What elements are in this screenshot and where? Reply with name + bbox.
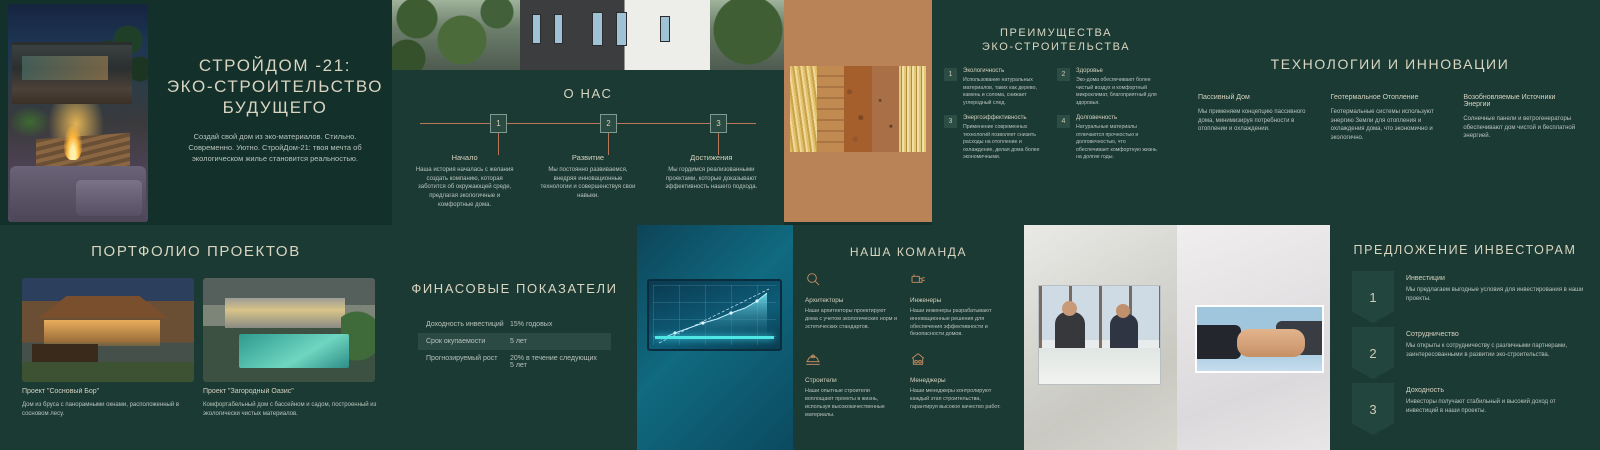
advantages-title-line2: ЭКО-СТРОИТЕЛЬСТВА xyxy=(932,40,1180,54)
about-timeline: 1 2 3 xyxy=(420,123,756,139)
render-window xyxy=(554,14,563,44)
finance-key: Доходность инвестиций xyxy=(426,321,510,328)
firepit-flame xyxy=(64,126,82,160)
chart-point xyxy=(673,331,676,334)
meeting-scene xyxy=(1038,285,1161,385)
portfolio-image-1 xyxy=(22,278,194,382)
handshake-scene xyxy=(1195,305,1324,373)
about-steps: Начало Наша история началась с желания с… xyxy=(406,153,770,209)
pf1-lawn xyxy=(22,362,194,382)
investors-panel: ПРЕДЛОЖЕНИЕ ИНВЕСТОРАМ 1 Инвестиции Мы п… xyxy=(1330,225,1600,450)
house-gear-icon xyxy=(910,351,926,367)
timeline-node-1: 1 xyxy=(490,114,507,133)
advantage-number: 2 xyxy=(1057,68,1070,81)
pf2-slab xyxy=(225,298,345,328)
magnifier-icon xyxy=(805,271,821,287)
technology-text: Геотермальные системы используют энергию… xyxy=(1331,108,1450,143)
team-text: Наши архитекторы проектируют дома с учет… xyxy=(805,308,900,331)
meeting-photo xyxy=(1024,225,1177,450)
team-label: Строители xyxy=(805,377,900,384)
finance-panel: ФИНАСОВЫЕ ПОКАЗАТЕЛИ Доходность инвестиц… xyxy=(392,225,637,450)
investor-step-number: 3 xyxy=(1352,383,1394,435)
hero-photo xyxy=(8,4,148,222)
portfolio-name: Проект "Сосновый Бор" xyxy=(22,388,194,395)
advantages-title-line1: ПРЕИМУЩЕСТВА xyxy=(932,26,1180,40)
about-step: Развитие Мы постоянно развиваемся, внедр… xyxy=(529,153,646,209)
investor-item: 2 Сотрудничество Мы открыты к сотрудниче… xyxy=(1352,327,1586,379)
chart-point xyxy=(755,299,758,302)
investor-label: Сотрудничество xyxy=(1406,331,1586,338)
slide-collage: СТРОЙДОМ -21: ЭКО-СТРОИТЕЛЬСТВО БУДУЩЕГО… xyxy=(0,0,1600,450)
handshake-photo xyxy=(1177,225,1330,450)
team-photos xyxy=(1024,225,1330,450)
technology-label: Пассивный Дом xyxy=(1198,94,1317,101)
about-step: Достижения Мы гордимся реализованными пр… xyxy=(653,153,770,209)
hardhat-icon xyxy=(805,351,821,367)
timeline-stem-2 xyxy=(608,133,609,155)
advantage-text: Использование натуральных материалов, та… xyxy=(963,77,1047,107)
swatch-clay xyxy=(872,66,899,152)
technology-label: Возобновляемые Источники Энергии xyxy=(1463,94,1582,108)
finance-row: Доходность инвестиций 15% годовых xyxy=(418,316,611,333)
advantage-number: 3 xyxy=(944,115,957,128)
technologies-grid: Пассивный Дом Мы применяем концепцию пас… xyxy=(1198,94,1582,143)
clasped-hands xyxy=(1237,329,1305,357)
finance-table: Доходность инвестиций 15% годовых Срок о… xyxy=(418,316,611,374)
about-step-text: Мы гордимся реализованными проектами, ко… xyxy=(653,166,770,192)
hero-title-line1: СТРОЙДОМ -21: xyxy=(160,55,390,76)
finance-title: ФИНАСОВЫЕ ПОКАЗАТЕЛИ xyxy=(392,281,637,296)
render-window xyxy=(616,12,627,46)
team-label: Архитекторы xyxy=(805,297,900,304)
swatch-bamboo xyxy=(899,66,926,152)
swatch-straw xyxy=(790,66,817,152)
investors-title: ПРЕДЛОЖЕНИЕ ИНВЕСТОРАМ xyxy=(1330,243,1600,257)
advantage-text: Эко-дома обеспечивают более чистый возду… xyxy=(1076,77,1160,107)
pf2-pool xyxy=(239,334,349,368)
timeline-stem-1 xyxy=(498,133,499,155)
finance-value: 20% в течение следующих 5 лет xyxy=(510,355,602,369)
chart-baseline xyxy=(655,336,774,339)
team-text: Наши менеджеры контролируют каждый этап … xyxy=(910,388,1005,411)
conference-table xyxy=(1039,348,1160,384)
portfolio-text: Дом из бруса с панорамными окнами, распо… xyxy=(22,401,194,418)
team-text: Наши опытные строители воплощают проекты… xyxy=(805,388,900,419)
technology-label: Геотермальное Отопление xyxy=(1331,94,1450,101)
team-member: Архитекторы Наши архитекторы проектируют… xyxy=(805,271,900,339)
render-foliage-right xyxy=(708,0,792,70)
team-title: НАША КОМАНДА xyxy=(793,245,1024,259)
timeline-line xyxy=(420,123,756,124)
investor-label: Инвестиции xyxy=(1406,275,1586,282)
technology-item: Геотермальное Отопление Геотермальные си… xyxy=(1331,94,1450,143)
advantage-item: 1 Экологичность Использование натуральны… xyxy=(944,68,1047,107)
investors-list: 1 Инвестиции Мы предлагаем выгодные усло… xyxy=(1352,271,1586,435)
advantages-panel: ПРЕИМУЩЕСТВА ЭКО-СТРОИТЕЛЬСТВА 1 Экологи… xyxy=(932,0,1180,225)
finance-row: Прогнозируемый рост 20% в течение следую… xyxy=(418,350,611,374)
render-window xyxy=(592,12,603,46)
technologies-title: ТЕХНОЛОГИИ И ИННОВАЦИИ xyxy=(1180,56,1600,72)
pf1-garage xyxy=(32,344,98,364)
chart-point xyxy=(701,321,704,324)
advantage-number: 4 xyxy=(1057,115,1070,128)
team-label: Менеджеры xyxy=(910,377,1005,384)
investor-label: Доходность xyxy=(1406,387,1586,394)
about-step-label: Достижения xyxy=(653,153,770,162)
technology-item: Возобновляемые Источники Энергии Солнечн… xyxy=(1463,94,1582,143)
advantage-label: Долговечность xyxy=(1076,115,1160,121)
advantage-label: Здоровье xyxy=(1076,68,1160,74)
about-title: О НАС xyxy=(392,86,784,101)
investor-text: Мы открыты к сотрудничеству с различными… xyxy=(1406,342,1586,359)
advantage-number: 1 xyxy=(944,68,957,81)
chart-point xyxy=(729,311,732,314)
finance-value: 15% годовых xyxy=(510,321,552,328)
hero-subtitle: Создай свой дом из эко-материалов. Стиль… xyxy=(160,132,390,165)
portfolio-name: Проект "Загородный Оазис" xyxy=(203,388,383,395)
material-swatches xyxy=(790,66,926,152)
house-render-strip xyxy=(392,0,792,70)
advantage-item: 2 Здоровье Эко-дома обеспечивают более ч… xyxy=(1057,68,1160,107)
investor-step-number: 1 xyxy=(1352,271,1394,323)
advantage-text: Применение современных технологий позвол… xyxy=(963,124,1047,162)
pf1-window-glow xyxy=(44,320,160,346)
team-text: Наши инженеры разрабатывают инновационны… xyxy=(910,308,1005,339)
portfolio-caption-2: Проект "Загородный Оазис" Комфортабельны… xyxy=(203,388,383,418)
about-step-text: Наша история началась с желания создать … xyxy=(406,166,523,209)
render-window xyxy=(532,14,541,44)
about-step-text: Мы постоянно развиваемся, внедряя иннова… xyxy=(529,166,646,201)
materials-panel xyxy=(784,0,932,222)
finance-row: Срок окупаемости 5 лет xyxy=(418,333,611,350)
sofa-decor-2 xyxy=(76,180,142,216)
about-panel: О НАС 1 2 3 Начало Наша история началась… xyxy=(392,70,784,225)
hero-title-line2: ЭКО-СТРОИТЕЛЬСТВО xyxy=(160,76,390,97)
timeline-node-2: 2 xyxy=(600,114,617,133)
investor-item: 1 Инвестиции Мы предлагаем выгодные усло… xyxy=(1352,271,1586,323)
person-head xyxy=(1116,304,1130,318)
about-step-label: Развитие xyxy=(529,153,646,162)
finance-key: Срок окупаемости xyxy=(426,338,510,345)
advantage-text: Натуральные материалы отличаются прочнос… xyxy=(1076,124,1160,162)
technology-text: Мы применяем концепцию пассивного дома, … xyxy=(1198,108,1317,134)
person-left xyxy=(1055,312,1085,352)
team-member: Менеджеры Наши менеджеры контролируют ка… xyxy=(910,351,1005,419)
portfolio-caption-1: Проект "Сосновый Бор" Дом из бруса с пан… xyxy=(22,388,194,418)
team-label: Инженеры xyxy=(910,297,1005,304)
swatch-wood xyxy=(817,66,844,152)
advantage-label: Экологичность xyxy=(963,68,1047,74)
person-right xyxy=(1110,314,1138,352)
finance-value: 5 лет xyxy=(510,338,527,345)
portfolio-title: ПОРТФОЛИО ПРОЕКТОВ xyxy=(0,243,392,260)
hero-title-line3: БУДУЩЕГО xyxy=(160,97,390,118)
about-step: Начало Наша история началась с желания с… xyxy=(406,153,523,209)
timeline-node-3: 3 xyxy=(710,114,727,133)
investor-text: Инвесторы получают стабильный и высокий … xyxy=(1406,398,1586,415)
about-step-label: Начало xyxy=(406,153,523,162)
engine-icon xyxy=(910,271,926,287)
team-member: Инженеры Наши инженеры разрабатывают инн… xyxy=(910,271,1005,339)
portfolio-image-2 xyxy=(203,278,375,382)
growth-chart-card xyxy=(647,279,782,351)
investor-item: 3 Доходность Инвесторы получают стабильн… xyxy=(1352,383,1586,435)
house-glass xyxy=(22,56,108,80)
person-head xyxy=(1062,301,1077,316)
timeline-stem-3 xyxy=(718,133,719,155)
technology-text: Солнечные панели и ветрогенераторы обесп… xyxy=(1463,115,1582,141)
render-building xyxy=(520,0,710,70)
technology-item: Пассивный Дом Мы применяем концепцию пас… xyxy=(1198,94,1317,143)
swatch-cork xyxy=(844,66,871,152)
team-panel: НАША КОМАНДА Архитекторы Наши архитектор… xyxy=(793,225,1024,450)
render-foliage-left xyxy=(392,0,522,70)
advantage-item: 3 Энергоэффективность Применение совреме… xyxy=(944,115,1047,162)
growth-chart-panel xyxy=(637,225,793,450)
chart-svg xyxy=(649,281,782,351)
investor-step-number: 2 xyxy=(1352,327,1394,379)
render-window xyxy=(660,16,670,42)
hero-text-block: СТРОЙДОМ -21: ЭКО-СТРОИТЕЛЬСТВО БУДУЩЕГО… xyxy=(160,55,390,175)
advantage-item: 4 Долговечность Натуральные материалы от… xyxy=(1057,115,1160,162)
pf1-roof xyxy=(38,296,168,318)
technologies-panel: ТЕХНОЛОГИИ И ИННОВАЦИИ Пассивный Дом Мы … xyxy=(1180,0,1600,225)
team-member: Строители Наши опытные строители воплоща… xyxy=(805,351,900,419)
investor-text: Мы предлагаем выгодные условия для инвес… xyxy=(1406,286,1586,303)
finance-key: Прогнозируемый рост xyxy=(426,355,510,369)
sleeve-left xyxy=(1197,325,1241,359)
team-grid: Архитекторы Наши архитекторы проектируют… xyxy=(805,271,1012,420)
advantages-grid: 1 Экологичность Использование натуральны… xyxy=(944,68,1168,162)
advantage-label: Энергоэффективность xyxy=(963,115,1047,121)
portfolio-text: Комфортабельный дом с бассейном и садом,… xyxy=(203,401,383,418)
